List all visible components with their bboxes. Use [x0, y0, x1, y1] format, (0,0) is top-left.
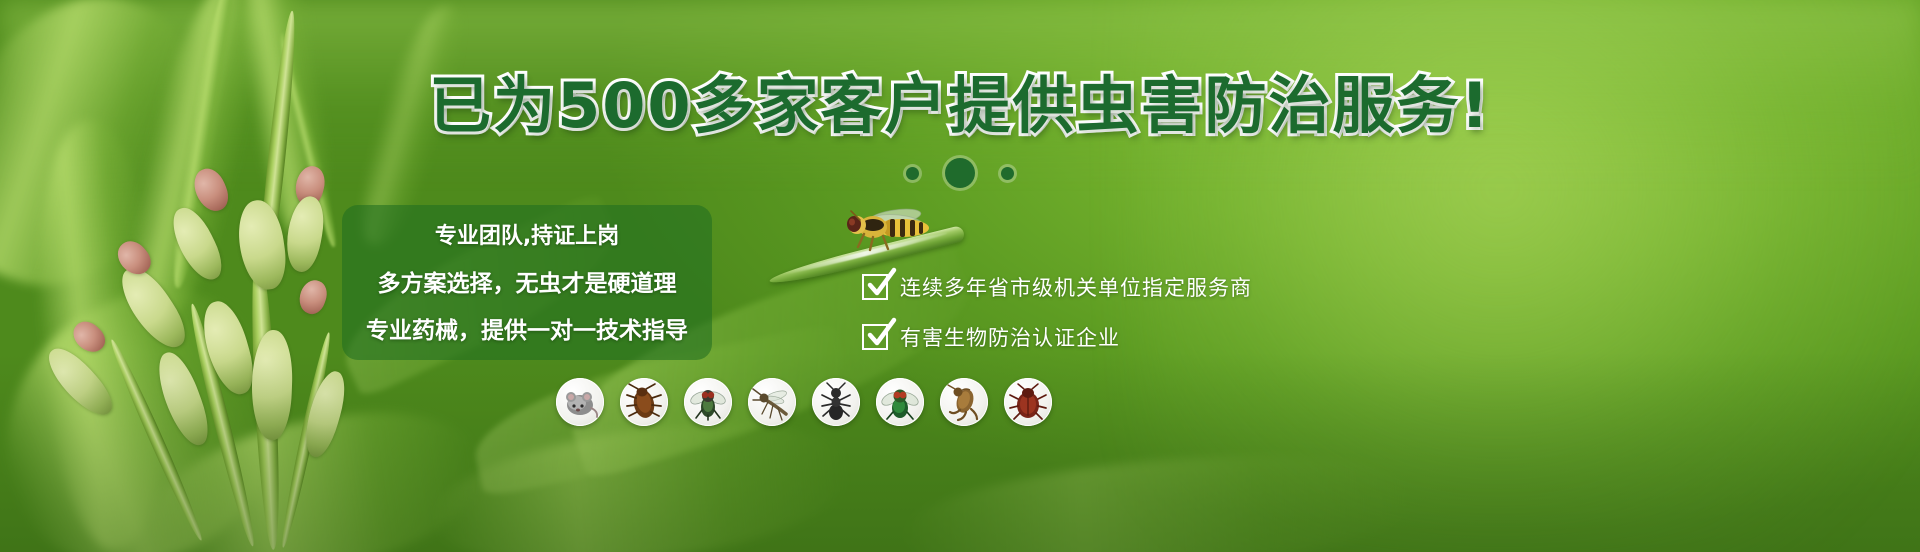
credentials-list: 连续多年省市级机关单位指定服务商 有害生物防治认证企业	[862, 272, 1252, 352]
bedbug-icon	[1008, 382, 1048, 422]
pest-icon-fly[interactable]	[684, 378, 732, 426]
pest-icon-cockroach[interactable]	[620, 378, 668, 426]
pest-icon-bedbug[interactable]	[1004, 378, 1052, 426]
cockroach-icon	[624, 382, 664, 422]
pest-icon-row	[556, 378, 1052, 426]
decorative-dots	[0, 158, 1920, 188]
checkbox-checked-icon	[862, 274, 888, 300]
pest-icon-mosquito[interactable]	[748, 378, 796, 426]
panel-line-2: 多方案选择，无虫才是硬道理	[356, 264, 698, 298]
hoverfly-icon	[840, 205, 940, 253]
panel-line-1: 专业团队,持证上岗	[356, 218, 698, 250]
flea-icon	[944, 382, 984, 422]
mouse-icon	[560, 382, 600, 422]
credential-label: 有害生物防治认证企业	[900, 322, 1120, 352]
blowfly-icon	[880, 382, 920, 422]
credential-label: 连续多年省市级机关单位指定服务商	[900, 272, 1252, 302]
dot-small-right	[1001, 167, 1014, 180]
pest-icon-ant[interactable]	[812, 378, 860, 426]
list-item: 有害生物防治认证企业	[862, 322, 1252, 352]
dot-large-center	[945, 158, 975, 188]
list-item: 连续多年省市级机关单位指定服务商	[862, 272, 1252, 302]
dot-small-left	[906, 167, 919, 180]
mosquito-icon	[752, 382, 792, 422]
pest-icon-blowfly[interactable]	[876, 378, 924, 426]
ant-icon	[816, 382, 856, 422]
value-proposition-panel: 专业团队,持证上岗 多方案选择，无虫才是硬道理 专业药械，提供一对一技术指导	[342, 205, 712, 360]
pest-control-banner: 已为500多家客户提供虫害防治服务! 专业团队,	[0, 0, 1920, 552]
pest-icon-flea[interactable]	[940, 378, 988, 426]
panel-line-3: 专业药械，提供一对一技术指导	[356, 311, 698, 345]
checkbox-checked-icon	[862, 324, 888, 350]
fly-icon	[688, 382, 728, 422]
pest-icon-mouse[interactable]	[556, 378, 604, 426]
